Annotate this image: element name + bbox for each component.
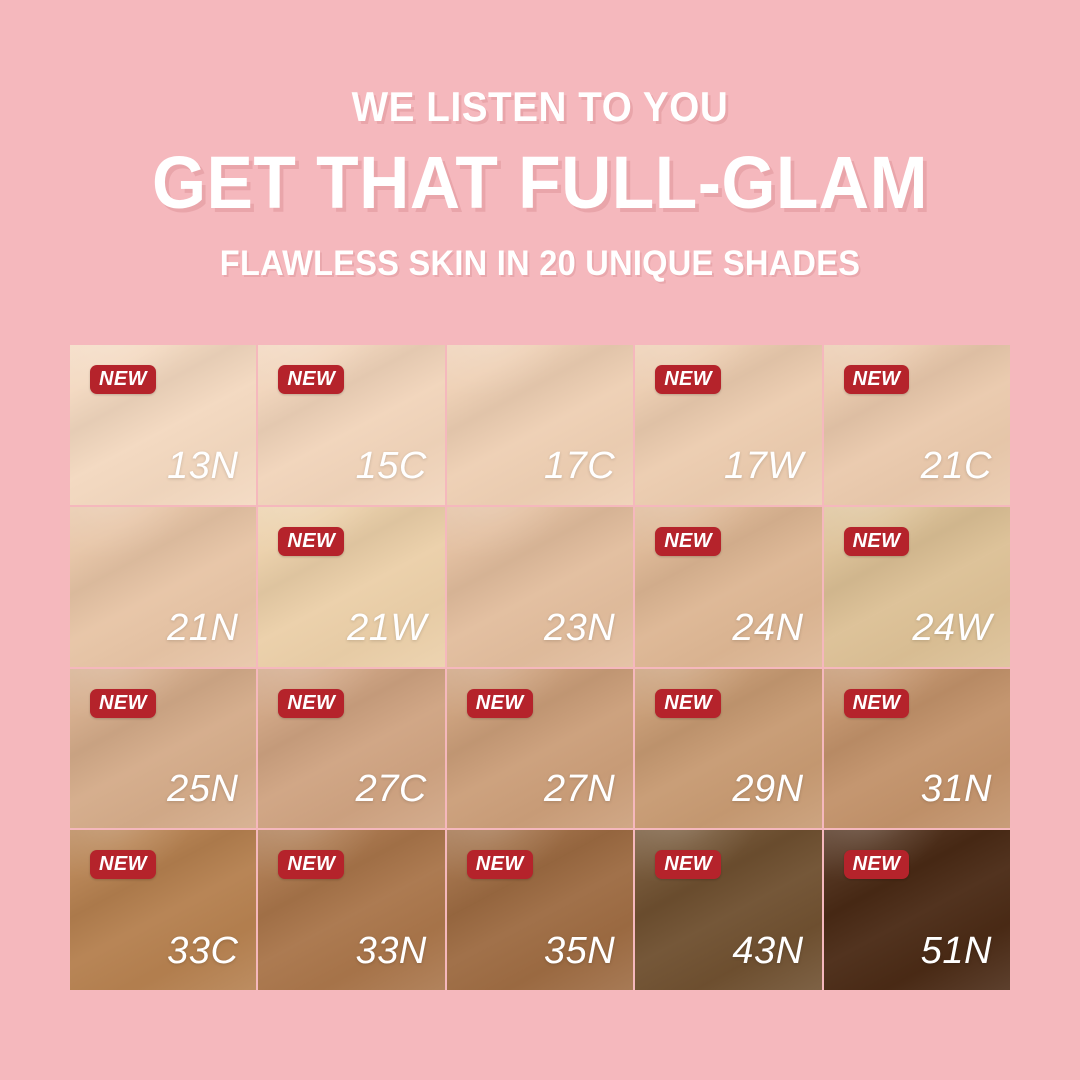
- shade-swatch[interactable]: NEW21W: [258, 507, 444, 667]
- new-badge: NEW: [467, 689, 533, 718]
- shade-swatch[interactable]: NEW27N: [447, 669, 633, 829]
- shade-code-label: 15C: [356, 447, 427, 485]
- new-badge: NEW: [655, 689, 721, 718]
- eyebrow-text: WE LISTEN TO YOU: [43, 86, 1037, 128]
- shade-code-label: 35N: [544, 932, 615, 970]
- shade-code-label: 27C: [356, 770, 427, 808]
- new-badge: NEW: [467, 850, 533, 879]
- shade-code-label: 21W: [347, 609, 427, 647]
- shade-swatch[interactable]: NEW17W: [635, 345, 821, 505]
- shade-swatch[interactable]: NEW17C: [447, 345, 633, 505]
- shade-code-label: 31N: [921, 770, 992, 808]
- shade-code-label: 24N: [732, 609, 803, 647]
- shade-code-label: 23N: [544, 609, 615, 647]
- shade-swatch[interactable]: NEW33C: [70, 830, 256, 990]
- shade-swatch[interactable]: NEW33N: [258, 830, 444, 990]
- new-badge: NEW: [844, 527, 910, 556]
- new-badge: NEW: [278, 689, 344, 718]
- new-badge: NEW: [655, 365, 721, 394]
- shade-swatch[interactable]: NEW24N: [635, 507, 821, 667]
- shade-swatch[interactable]: NEW23N: [447, 507, 633, 667]
- new-badge: NEW: [844, 689, 910, 718]
- shade-code-label: 21N: [167, 609, 238, 647]
- new-badge: NEW: [278, 527, 344, 556]
- shade-swatch[interactable]: NEW21C: [824, 345, 1010, 505]
- shade-code-label: 33N: [356, 932, 427, 970]
- new-badge: NEW: [278, 850, 344, 879]
- shade-swatch[interactable]: NEW35N: [447, 830, 633, 990]
- shade-swatch[interactable]: NEW13N: [70, 345, 256, 505]
- new-badge: NEW: [844, 850, 910, 879]
- shade-code-label: 51N: [921, 932, 992, 970]
- new-badge: NEW: [90, 689, 156, 718]
- shade-code-label: 29N: [732, 770, 803, 808]
- shade-code-label: 33C: [167, 932, 238, 970]
- shade-code-label: 17W: [724, 447, 804, 485]
- new-badge: NEW: [655, 850, 721, 879]
- shade-code-label: 24W: [912, 609, 992, 647]
- new-badge: NEW: [844, 365, 910, 394]
- shade-swatch[interactable]: NEW29N: [635, 669, 821, 829]
- shade-swatch[interactable]: NEW24W: [824, 507, 1010, 667]
- shade-code-label: 21C: [921, 447, 992, 485]
- header-block: WE LISTEN TO YOU GET THAT FULL-GLAM FLAW…: [0, 0, 1080, 281]
- shade-swatch[interactable]: NEW25N: [70, 669, 256, 829]
- shade-swatch[interactable]: NEW31N: [824, 669, 1010, 829]
- new-badge: NEW: [90, 365, 156, 394]
- shade-code-label: 27N: [544, 770, 615, 808]
- new-badge: NEW: [90, 850, 156, 879]
- shade-swatch[interactable]: NEW51N: [824, 830, 1010, 990]
- new-badge: NEW: [278, 365, 344, 394]
- subtitle-text: FLAWLESS SKIN IN 20 UNIQUE SHADES: [38, 246, 1042, 281]
- shade-swatch[interactable]: NEW15C: [258, 345, 444, 505]
- new-badge: NEW: [655, 527, 721, 556]
- shade-swatch[interactable]: NEW43N: [635, 830, 821, 990]
- shade-grid: NEW13NNEW15CNEW17CNEW17WNEW21CNEW21NNEW2…: [70, 345, 1010, 990]
- shade-swatch[interactable]: NEW21N: [70, 507, 256, 667]
- shade-code-label: 43N: [732, 932, 803, 970]
- shade-code-label: 25N: [167, 770, 238, 808]
- shade-code-label: 17C: [544, 447, 615, 485]
- shade-code-label: 13N: [167, 447, 238, 485]
- page-title: GET THAT FULL-GLAM: [32, 146, 1047, 220]
- shade-swatch[interactable]: NEW27C: [258, 669, 444, 829]
